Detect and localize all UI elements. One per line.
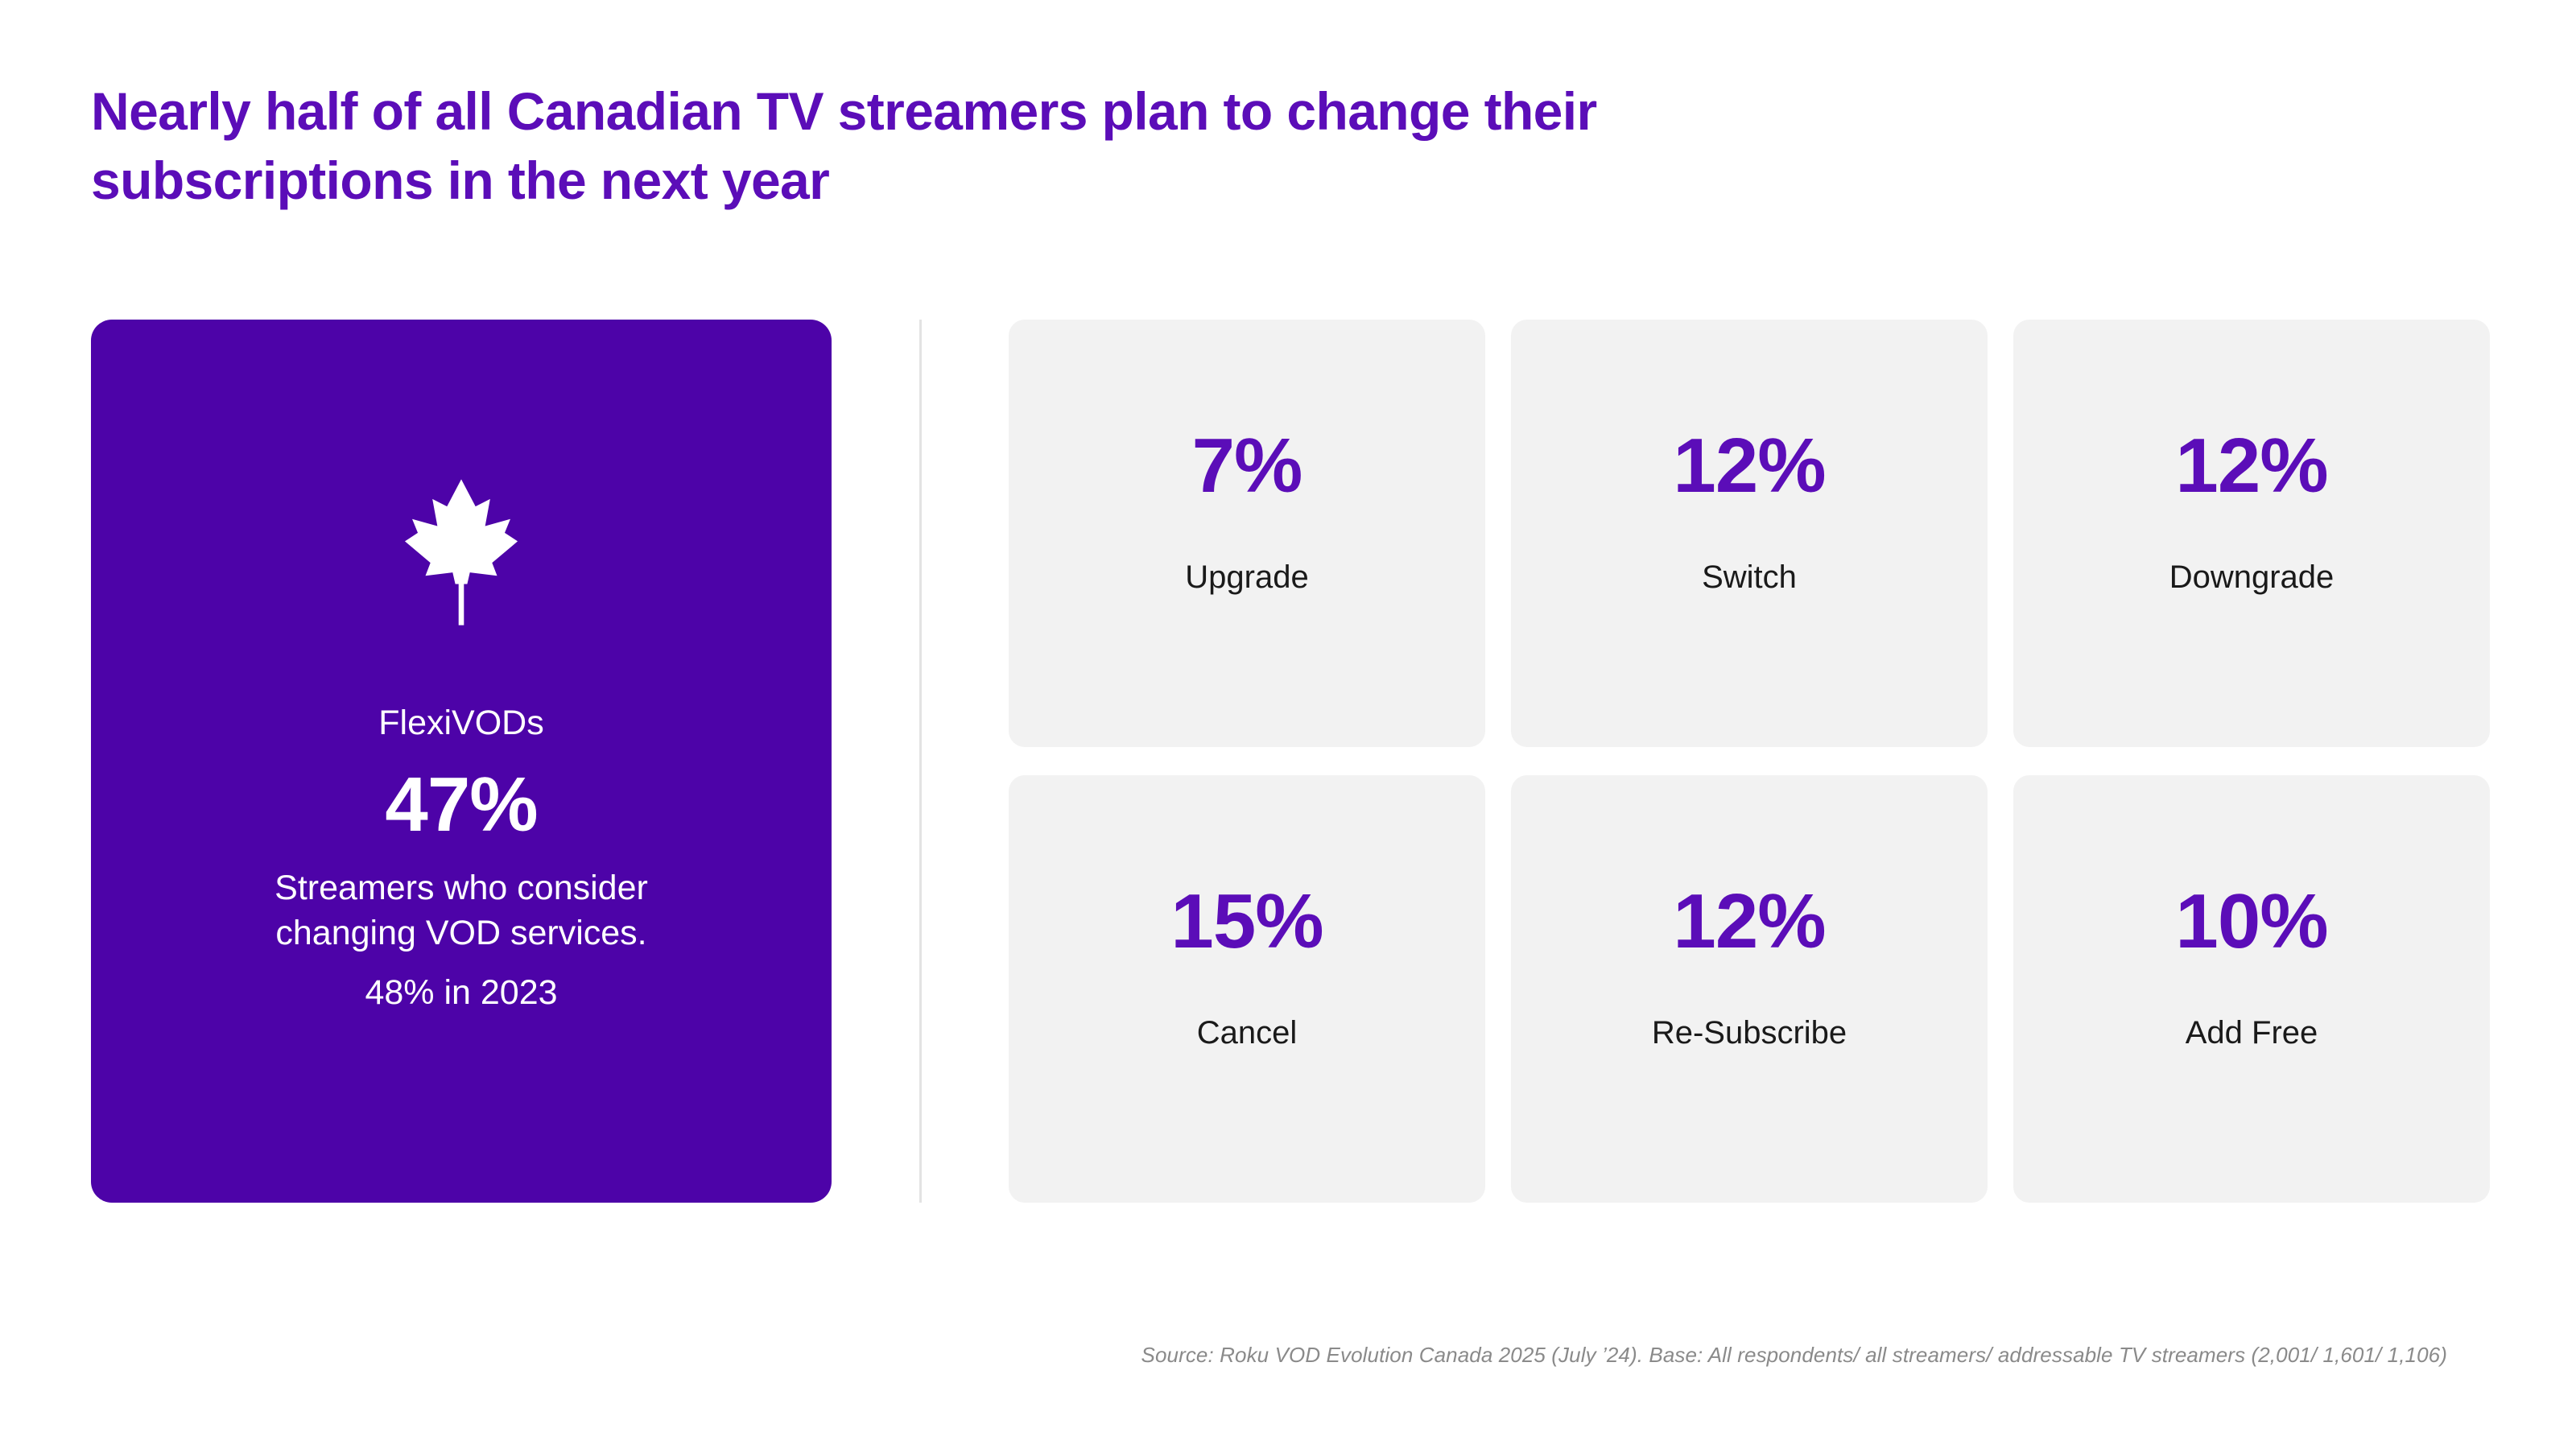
hero-description-line-1: Streamers who consider: [275, 866, 648, 911]
hero-eyebrow-label: FlexiVODs: [378, 704, 543, 742]
hero-stat-card: FlexiVODs 47% Streamers who consider cha…: [91, 320, 832, 1203]
stat-value: 12%: [1673, 427, 1825, 505]
page-title-line-2: subscriptions in the next year: [91, 147, 2023, 216]
stat-card-downgrade: 12% Downgrade: [2013, 320, 2490, 747]
stat-card-upgrade: 7% Upgrade: [1009, 320, 1485, 747]
stat-value: 15%: [1170, 883, 1323, 960]
stat-card-switch: 12% Switch: [1511, 320, 1988, 747]
maple-leaf-icon: [378, 469, 544, 635]
infographic-page: Nearly half of all Canadian TV streamers…: [0, 0, 2576, 1449]
stats-grid: 7% Upgrade 12% Switch 12% Downgrade 15% …: [1009, 320, 2490, 1203]
stat-value: 10%: [2175, 883, 2327, 960]
hero-description: Streamers who consider changing VOD serv…: [275, 866, 648, 956]
stat-label: Re-Subscribe: [1652, 1015, 1847, 1051]
stat-card-re-subscribe: 12% Re-Subscribe: [1511, 775, 1988, 1203]
stat-card-cancel: 15% Cancel: [1009, 775, 1485, 1203]
hero-stat-value: 47%: [385, 766, 537, 844]
vertical-divider: [919, 320, 922, 1203]
page-title-line-1: Nearly half of all Canadian TV streamers…: [91, 77, 2023, 147]
stat-label: Switch: [1702, 559, 1797, 595]
hero-prior-year-comparison: 48% in 2023: [365, 972, 557, 1014]
stat-label: Downgrade: [2169, 559, 2334, 595]
stat-label: Add Free: [2186, 1015, 2318, 1051]
stat-value: 12%: [1673, 883, 1825, 960]
stat-label: Cancel: [1197, 1015, 1298, 1051]
stat-card-add-free: 10% Add Free: [2013, 775, 2490, 1203]
stat-value: 7%: [1192, 427, 1302, 505]
hero-description-line-2: changing VOD services.: [275, 911, 648, 956]
stat-value: 12%: [2175, 427, 2327, 505]
source-footnote: Source: Roku VOD Evolution Canada 2025 (…: [0, 1343, 2447, 1368]
stat-label: Upgrade: [1185, 559, 1308, 595]
page-title: Nearly half of all Canadian TV streamers…: [91, 77, 2023, 216]
